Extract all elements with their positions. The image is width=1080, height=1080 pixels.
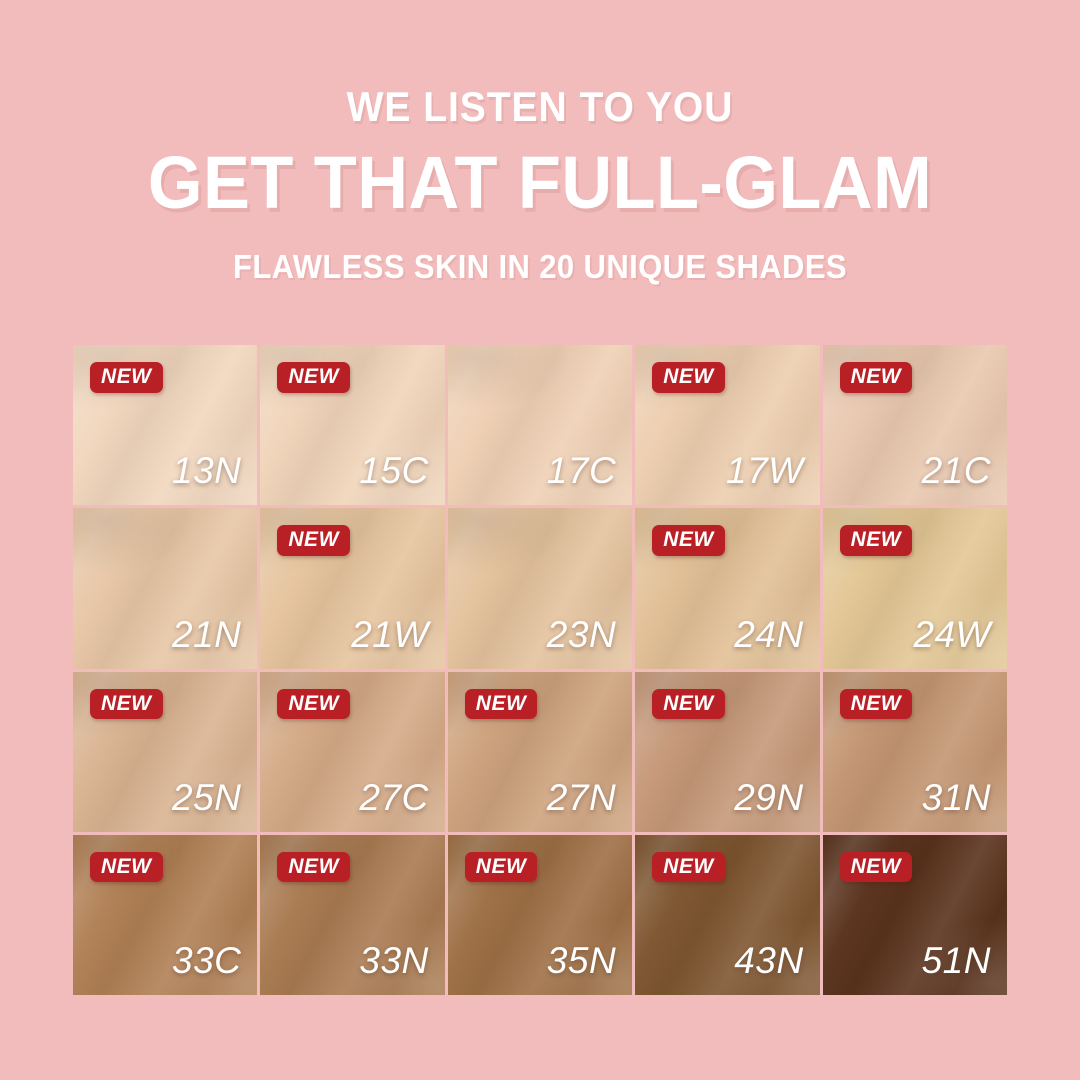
new-badge: NEW [90, 689, 163, 720]
shade-code-label: 23N [547, 616, 616, 653]
shade-swatch[interactable]: NEW33C [73, 835, 257, 995]
shade-swatch[interactable]: NEW25N [73, 672, 257, 832]
new-badge: NEW [840, 362, 913, 393]
shade-code-label: 35N [547, 942, 616, 979]
new-badge: NEW [652, 525, 725, 556]
shade-swatch[interactable]: NEW24W [823, 508, 1007, 668]
shade-swatch[interactable]: NEW23N [448, 508, 632, 668]
shade-swatch[interactable]: NEW29N [635, 672, 819, 832]
shade-code-label: 33C [172, 942, 241, 979]
shade-code-label: 29N [734, 779, 803, 816]
shade-code-label: 21N [172, 616, 241, 653]
shade-code-label: 24W [913, 616, 991, 653]
shade-code-label: 13N [172, 452, 241, 489]
shade-swatch[interactable]: NEW27N [448, 672, 632, 832]
subheading-text: FLAWLESS SKIN IN 20 UNIQUE SHADES [32, 250, 1047, 283]
shade-swatch[interactable]: NEW21C [823, 345, 1007, 505]
new-badge: NEW [840, 689, 913, 720]
new-badge: NEW [465, 852, 538, 883]
shade-swatch[interactable]: NEW33N [260, 835, 444, 995]
shade-code-label: 17W [726, 452, 804, 489]
shade-swatch[interactable]: NEW27C [260, 672, 444, 832]
page-title: GET THAT FULL-GLAM [27, 144, 1053, 222]
shade-code-label: 27N [547, 779, 616, 816]
new-badge: NEW [277, 362, 350, 393]
shade-code-label: 17C [547, 452, 616, 489]
new-badge: NEW [277, 525, 350, 556]
new-badge: NEW [90, 362, 163, 393]
new-badge: NEW [465, 689, 538, 720]
shade-grid-container: NEW13NNEW15CNEW17CNEW17WNEW21CNEW21NNEW2… [73, 345, 1007, 995]
new-badge: NEW [840, 525, 913, 556]
eyebrow-text: WE LISTEN TO YOU [38, 86, 1042, 128]
shade-swatch[interactable]: NEW21W [260, 508, 444, 668]
new-badge: NEW [277, 852, 350, 883]
shade-code-label: 51N [922, 942, 991, 979]
new-badge: NEW [277, 689, 350, 720]
shade-code-label: 31N [922, 779, 991, 816]
new-badge: NEW [90, 852, 163, 883]
headings-block: WE LISTEN TO YOU GET THAT FULL-GLAM FLAW… [0, 0, 1080, 283]
shade-swatch[interactable]: NEW51N [823, 835, 1007, 995]
shade-swatch[interactable]: NEW17W [635, 345, 819, 505]
shade-swatch[interactable]: NEW21N [73, 508, 257, 668]
shade-grid: NEW13NNEW15CNEW17CNEW17WNEW21CNEW21NNEW2… [73, 345, 1007, 995]
shade-code-label: 25N [172, 779, 241, 816]
shade-swatch[interactable]: NEW15C [260, 345, 444, 505]
shade-code-label: 21W [351, 616, 429, 653]
new-badge: NEW [652, 362, 725, 393]
shade-code-label: 27C [359, 779, 428, 816]
new-badge: NEW [652, 852, 725, 883]
shade-code-label: 21C [922, 452, 991, 489]
shade-code-label: 24N [734, 616, 803, 653]
shade-swatch[interactable]: NEW13N [73, 345, 257, 505]
shade-code-label: 15C [359, 452, 428, 489]
new-badge: NEW [840, 852, 913, 883]
shade-swatch[interactable]: NEW35N [448, 835, 632, 995]
shade-code-label: 43N [734, 942, 803, 979]
new-badge: NEW [652, 689, 725, 720]
shade-swatch[interactable]: NEW43N [635, 835, 819, 995]
shade-swatch[interactable]: NEW31N [823, 672, 1007, 832]
shade-code-label: 33N [359, 942, 428, 979]
shade-swatch[interactable]: NEW17C [448, 345, 632, 505]
shade-range-promo-banner: WE LISTEN TO YOU GET THAT FULL-GLAM FLAW… [0, 0, 1080, 1080]
shade-swatch[interactable]: NEW24N [635, 508, 819, 668]
